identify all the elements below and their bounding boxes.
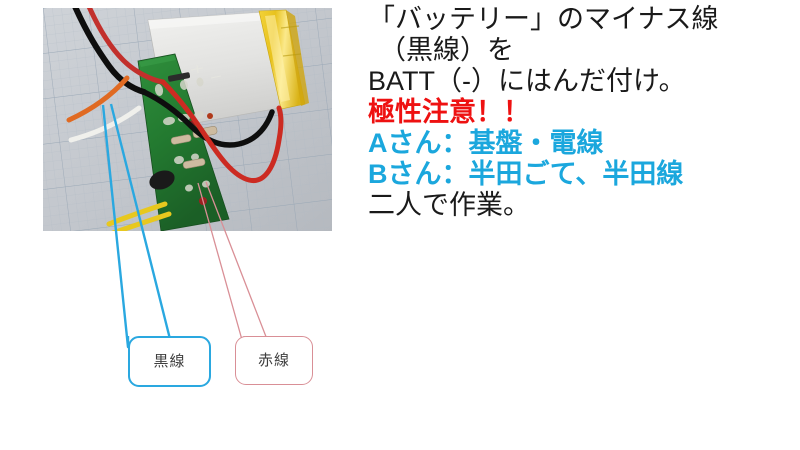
red-wire-callout-label: 赤線 [258,353,290,368]
polarity-warning: 極性注意！！ [368,97,793,128]
photo-illustration [43,8,332,231]
slide-canvas: 黒線 赤線 「バッテリー」のマイナス線 （黒線）を BATT（-）にはんだ付け。… [0,0,800,450]
instruction-line-1: 「バッテリー」のマイナス線 [368,4,793,35]
instruction-line-7: 二人で作業。 [368,190,793,221]
circuit-board-photo [43,8,332,231]
instruction-text-block: 「バッテリー」のマイナス線 （黒線）を BATT（-）にはんだ付け。 極性注意！… [368,4,793,221]
role-person-b: Bさん：半田ごて、半田線 [368,159,793,190]
role-person-a: Aさん：基盤・電線 [368,128,793,159]
instruction-line-2: （黒線）を [368,35,793,66]
black-wire-callout-label: 黒線 [153,354,185,369]
black-wire-callout: 黒線 [128,336,211,387]
instruction-line-3: BATT（-）にはんだ付け。 [368,66,793,97]
red-wire-callout: 赤線 [235,336,313,385]
